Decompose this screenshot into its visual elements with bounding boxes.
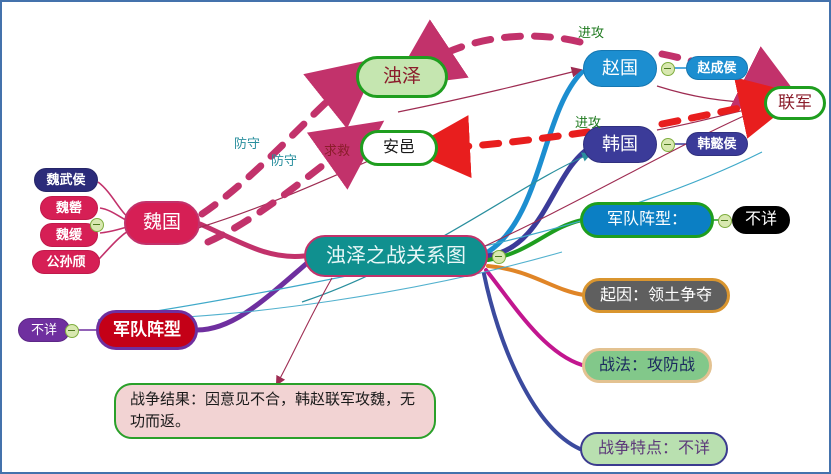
- node-unknown-left-label: 不详: [31, 322, 57, 338]
- edge-label-fangshou-2: 防守: [271, 150, 297, 169]
- node-war-feature[interactable]: 战争特点：不详: [580, 432, 728, 466]
- node-tactic-label: 战法：攻防战: [599, 356, 695, 376]
- node-han-guo-label: 韩国: [602, 133, 638, 156]
- node-gongsun-qi[interactable]: 公孙颀: [32, 250, 100, 274]
- node-war-feature-label: 战争特点：不详: [598, 439, 710, 459]
- edge-label-jingong-zhao: 进攻: [578, 22, 604, 41]
- node-wei-guo[interactable]: 魏国: [124, 201, 200, 245]
- node-zhuoze-label: 浊泽: [383, 65, 421, 89]
- node-wei-ying[interactable]: 魏罃: [40, 196, 98, 220]
- node-wei-wuhou[interactable]: 魏武侯: [34, 168, 98, 192]
- node-center-label: 浊泽之战关系图: [326, 244, 466, 269]
- node-allied-army[interactable]: 联军: [764, 86, 826, 120]
- collapse-toggle-army-right[interactable]: [718, 214, 732, 228]
- node-unknown-right-label: 不详: [745, 210, 777, 230]
- node-han-guo[interactable]: 韩国: [583, 126, 657, 163]
- mindmap-canvas: 浊泽之战关系图 魏国 魏武侯 魏罃 魏缓 公孙颀 军队阵型 不详 战争结果：因意…: [0, 0, 831, 474]
- node-cause-label: 起因：领土争夺: [600, 286, 712, 306]
- node-wei-wuhou-label: 魏武侯: [46, 172, 85, 188]
- node-tactic[interactable]: 战法：攻防战: [582, 348, 712, 383]
- node-anyi-label: 安邑: [383, 138, 415, 158]
- node-wei-huan-label: 魏缓: [56, 227, 82, 243]
- node-army-formation-left[interactable]: 军队阵型: [96, 310, 198, 350]
- collapse-toggle-army-left[interactable]: [65, 324, 79, 338]
- node-zhao-chenghou[interactable]: 赵成侯: [686, 56, 748, 80]
- collapse-toggle-wei[interactable]: [90, 218, 104, 232]
- node-war-result[interactable]: 战争结果：因意见不合，韩赵联军攻魏，无功而返。: [114, 383, 436, 439]
- node-gongsun-qi-label: 公孙颀: [46, 254, 85, 270]
- edge-label-fangshou-1: 防守: [234, 133, 260, 152]
- collapse-toggle-zhao[interactable]: [661, 62, 675, 76]
- node-unknown-right[interactable]: 不详: [732, 206, 790, 234]
- edge-label-jingong-han: 进攻: [575, 112, 601, 131]
- node-wei-guo-label: 魏国: [143, 211, 181, 235]
- node-unknown-left[interactable]: 不详: [18, 318, 70, 342]
- node-army-formation-right[interactable]: 军队阵型：: [580, 202, 714, 238]
- collapse-toggle-center[interactable]: [492, 250, 506, 264]
- node-zhao-chenghou-label: 赵成侯: [697, 60, 736, 76]
- collapse-toggle-han[interactable]: [661, 138, 675, 152]
- node-anyi[interactable]: 安邑: [360, 130, 438, 166]
- node-wei-ying-label: 魏罃: [56, 200, 82, 216]
- node-zhao-guo-label: 赵国: [602, 57, 638, 80]
- node-allied-army-label: 联军: [778, 92, 812, 113]
- node-army-formation-right-label: 军队阵型：: [607, 210, 687, 230]
- node-war-result-label: 战争结果：因意见不合，韩赵联军攻魏，无功而返。: [130, 389, 420, 434]
- node-han-yihou-label: 韩懿侯: [697, 136, 736, 152]
- node-zhao-guo[interactable]: 赵国: [583, 50, 657, 87]
- node-center[interactable]: 浊泽之战关系图: [304, 235, 488, 277]
- node-army-formation-left-label: 军队阵型: [113, 319, 181, 340]
- edge-label-qiujiu: 求救: [324, 140, 350, 159]
- node-zhuoze[interactable]: 浊泽: [356, 56, 448, 98]
- node-han-yihou[interactable]: 韩懿侯: [686, 132, 748, 156]
- node-cause[interactable]: 起因：领土争夺: [582, 278, 730, 313]
